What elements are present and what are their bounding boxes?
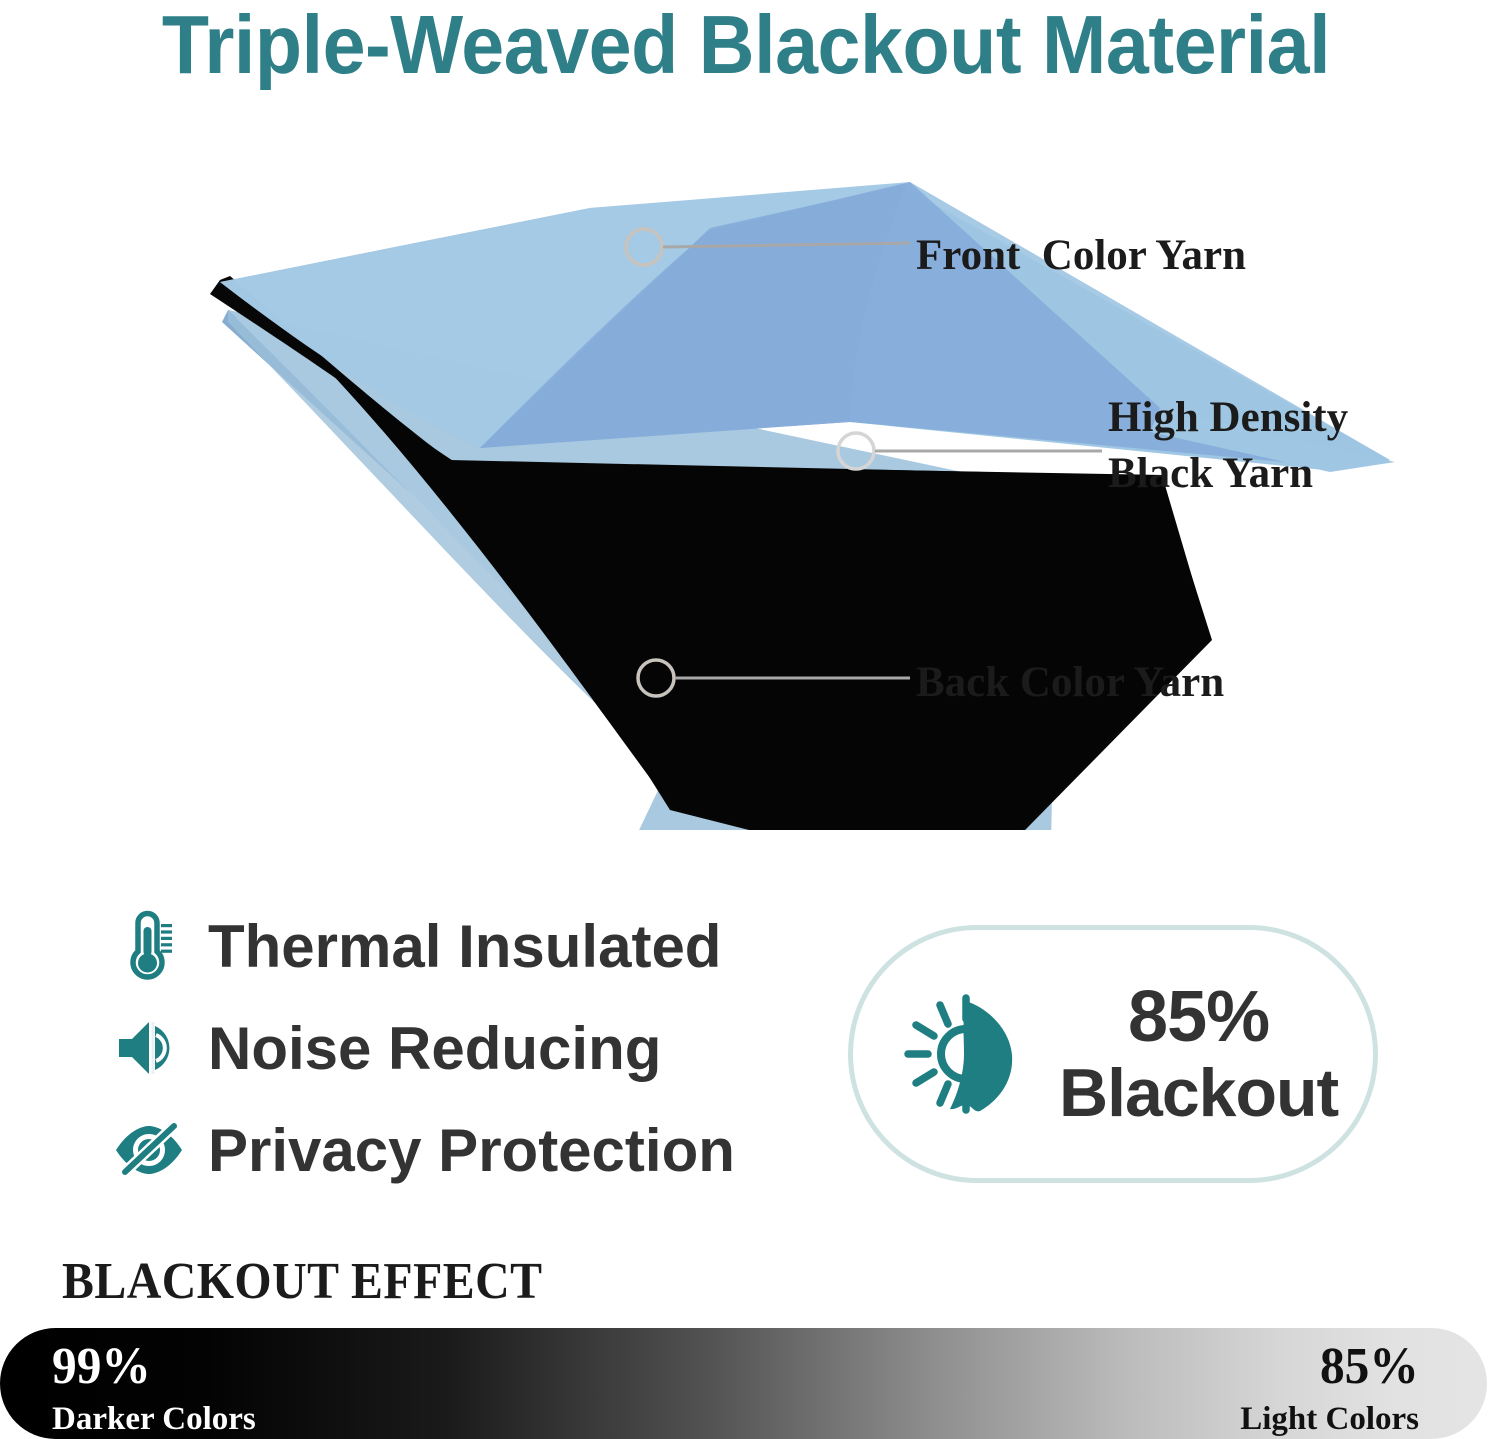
badge-word: Blackout <box>1059 1059 1338 1127</box>
blackout-effect-heading: BLACKOUT EFFECT <box>62 1252 543 1311</box>
gradient-bar-right-label: Light Colors <box>1240 1403 1419 1436</box>
infographic-page: Triple-Weaved Blackout Material <box>0 0 1492 1439</box>
feature-label-privacy-protection: Privacy Protection <box>208 1116 735 1185</box>
badge-text-block: 85% Blackout <box>1059 981 1338 1127</box>
badge-percent: 85% <box>1059 981 1338 1053</box>
feature-list: Thermal Insulated Noise Reducing <box>112 898 812 1204</box>
gradient-bar-left-label: Darker Colors <box>52 1403 256 1436</box>
gradient-bar-left-percent: 99% <box>52 1341 246 1393</box>
callout-label-front-color-yarn: Front Color Yarn <box>916 228 1246 284</box>
thermometer-icon <box>112 908 186 984</box>
feature-label-noise-reducing: Noise Reducing <box>208 1014 661 1083</box>
callout-label-high-density-black-yarn: High Density Black Yarn <box>1108 390 1348 502</box>
feature-item-noise-reducing: Noise Reducing <box>112 1000 812 1096</box>
eye-slash-icon <box>112 1112 186 1188</box>
gradient-bar-right-percent: 85% <box>1249 1341 1419 1393</box>
feature-item-thermal-insulated: Thermal Insulated <box>112 898 812 994</box>
page-title: Triple-Weaved Blackout Material <box>52 0 1440 93</box>
blackout-effect-gradient-bar: 99% Darker Colors 85% Light Colors <box>0 1328 1487 1439</box>
gradient-bar-right-stat: 85% Light Colors <box>1240 1341 1419 1436</box>
blackout-percentage-badge: 85% Blackout <box>848 925 1378 1183</box>
gradient-bar-left-stat: 99% Darker Colors <box>52 1341 256 1436</box>
sun-blocked-curtain-icon <box>889 974 1049 1134</box>
feature-item-privacy-protection: Privacy Protection <box>112 1102 812 1198</box>
speaker-sound-icon <box>112 1010 186 1086</box>
callout-label-back-color-yarn: Back Color Yarn <box>916 655 1224 711</box>
feature-label-thermal-insulated: Thermal Insulated <box>208 912 721 981</box>
